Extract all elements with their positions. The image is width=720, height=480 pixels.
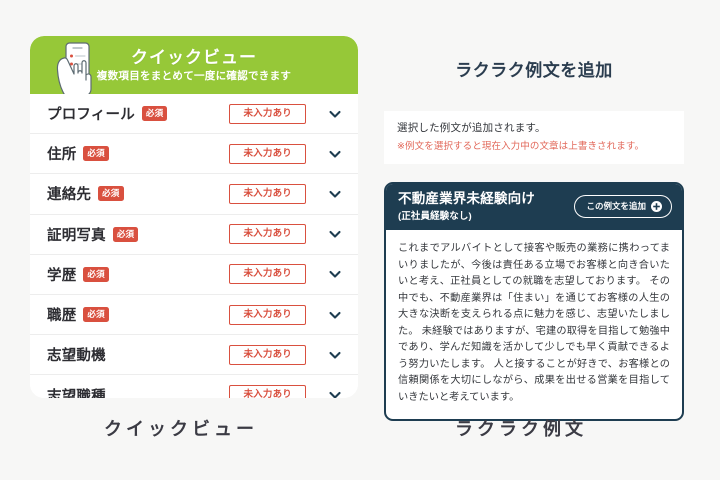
required-badge: 必須 bbox=[83, 307, 108, 322]
add-example-button-label: この例文を追加 bbox=[586, 202, 646, 211]
quick-view-row[interactable]: 志望動機未入力あり bbox=[30, 335, 358, 375]
status-badge: 未入力あり bbox=[229, 144, 306, 164]
example-card-header: 不動産業界未経験向け (正社員経験なし) この例文を追加 bbox=[386, 184, 682, 230]
chevron-down-icon[interactable] bbox=[328, 227, 342, 241]
quick-view-row[interactable]: 証明写真必須未入力あり bbox=[30, 215, 358, 255]
status-badge: 未入力あり bbox=[229, 345, 306, 365]
status-badge: 未入力あり bbox=[229, 224, 306, 244]
chevron-down-icon[interactable] bbox=[328, 147, 342, 161]
required-badge: 必須 bbox=[98, 186, 123, 201]
status-badge: 未入力あり bbox=[229, 104, 306, 124]
required-badge: 必須 bbox=[83, 267, 108, 282]
quick-view-row-label: 住所 bbox=[47, 143, 76, 164]
example-card-title: 不動産業界未経験向け bbox=[398, 192, 535, 206]
raku-raku-panel: ラクラク例文を追加 選択した例文が追加されます。 ※例文を選択すると現在入力中の… bbox=[384, 36, 684, 421]
status-badge: 未入力あり bbox=[229, 264, 306, 284]
quick-view-row-label: 連絡先 bbox=[47, 183, 91, 204]
phone-in-hand-icon bbox=[44, 40, 106, 98]
add-example-button[interactable]: この例文を追加 bbox=[574, 195, 672, 218]
info-box-primary-text: 選択した例文が追加されます。 bbox=[397, 123, 671, 134]
quick-view-row-label: 職歴 bbox=[47, 304, 76, 325]
quick-view-title: クイックビュー bbox=[131, 49, 257, 66]
status-badge: 未入力あり bbox=[229, 305, 306, 325]
example-card-subtitle: (正社員経験なし) bbox=[398, 212, 535, 222]
quick-view-row-label: プロフィール bbox=[47, 103, 135, 124]
example-card-body: これまでアルバイトとして接客や販売の業務に携わってまいりましたが、今後は責任ある… bbox=[386, 230, 682, 419]
quick-view-row[interactable]: 職歴必須未入力あり bbox=[30, 295, 358, 335]
chevron-down-icon[interactable] bbox=[328, 308, 342, 322]
plus-circle-icon bbox=[651, 201, 662, 212]
page-title: ラクラク例文を追加 bbox=[384, 62, 684, 79]
chevron-down-icon[interactable] bbox=[328, 388, 342, 398]
quick-view-row-label: 証明写真 bbox=[47, 224, 106, 245]
quick-view-row-label: 志望職種 bbox=[47, 385, 106, 398]
example-card-heading: 不動産業界未経験向け (正社員経験なし) bbox=[398, 192, 535, 221]
required-badge: 必須 bbox=[83, 146, 108, 161]
quick-view-row[interactable]: 志望職種未入力あり bbox=[30, 375, 358, 398]
caption-quick-view: クイックビュー bbox=[104, 420, 258, 438]
status-badge: 未入力あり bbox=[229, 385, 306, 398]
quick-view-row[interactable]: 連絡先必須未入力あり bbox=[30, 174, 358, 214]
quick-view-row[interactable]: 学歴必須未入力あり bbox=[30, 255, 358, 295]
quick-view-row[interactable]: プロフィール必須未入力あり bbox=[30, 94, 358, 134]
status-badge: 未入力あり bbox=[229, 184, 306, 204]
chevron-down-icon[interactable] bbox=[328, 107, 342, 121]
quick-view-subtitle: 複数項目をまとめて一度に確認できます bbox=[97, 71, 291, 82]
quick-view-list[interactable]: プロフィール必須未入力あり住所必須未入力あり連絡先必須未入力あり証明写真必須未入… bbox=[30, 94, 358, 398]
info-box: 選択した例文が追加されます。 ※例文を選択すると現在入力中の文章は上書きされます… bbox=[384, 111, 684, 164]
chevron-down-icon[interactable] bbox=[328, 267, 342, 281]
quick-view-row-label: 学歴 bbox=[47, 264, 76, 285]
chevron-down-icon[interactable] bbox=[328, 348, 342, 362]
info-box-warning-text: ※例文を選択すると現在入力中の文章は上書きされます。 bbox=[397, 142, 671, 152]
example-card: 不動産業界未経験向け (正社員経験なし) この例文を追加 これまでアルバイトとし… bbox=[384, 182, 684, 421]
required-badge: 必須 bbox=[113, 227, 138, 242]
quick-view-row[interactable]: 住所必須未入力あり bbox=[30, 134, 358, 174]
quick-view-row-label: 志望動機 bbox=[47, 344, 106, 365]
caption-raku-raku: ラクラク例文 bbox=[455, 420, 587, 438]
quick-view-header: クイックビュー 複数項目をまとめて一度に確認できます bbox=[30, 36, 358, 94]
chevron-down-icon[interactable] bbox=[328, 187, 342, 201]
quick-view-panel: クイックビュー 複数項目をまとめて一度に確認できます プロフィール必須未入力あり… bbox=[30, 36, 358, 398]
required-badge: 必須 bbox=[142, 106, 167, 121]
quick-view-card: クイックビュー 複数項目をまとめて一度に確認できます プロフィール必須未入力あり… bbox=[30, 36, 358, 398]
